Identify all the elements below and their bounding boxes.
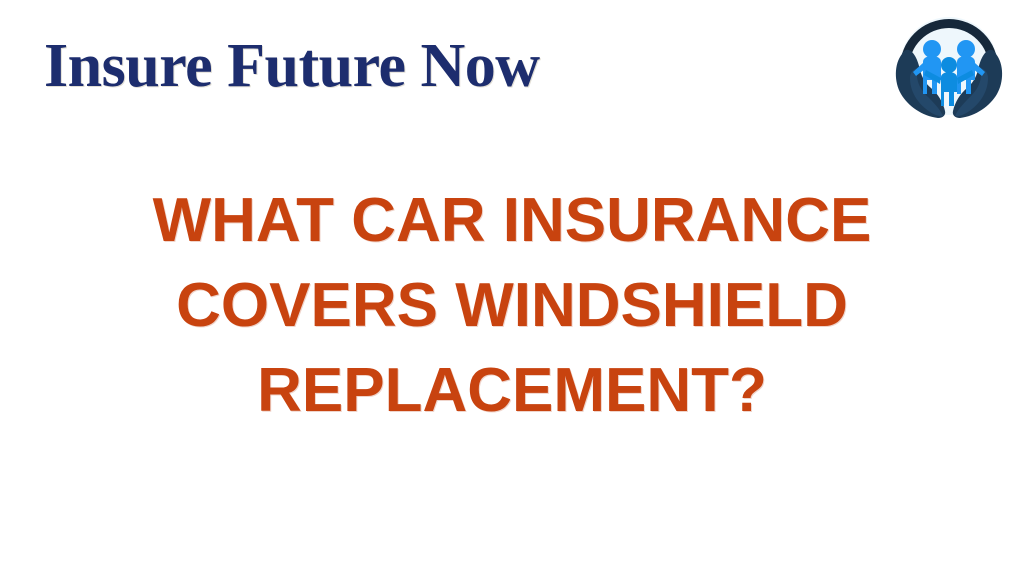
headline-line-1: WHAT CAR INSURANCE: [0, 178, 1024, 263]
brand-logo[interactable]: [888, 6, 1010, 124]
brand-wordmark[interactable]: Insure Future Now: [44, 32, 540, 100]
hands-holding-family-icon: [888, 6, 1010, 124]
headline-line-3: REPLACEMENT?: [0, 348, 1024, 433]
headline-line-2: COVERS WINDSHIELD: [0, 263, 1024, 348]
page-title: WHAT CAR INSURANCE COVERS WINDSHIELD REP…: [0, 178, 1024, 433]
article-header-banner: Insure Future Now: [0, 0, 1024, 576]
